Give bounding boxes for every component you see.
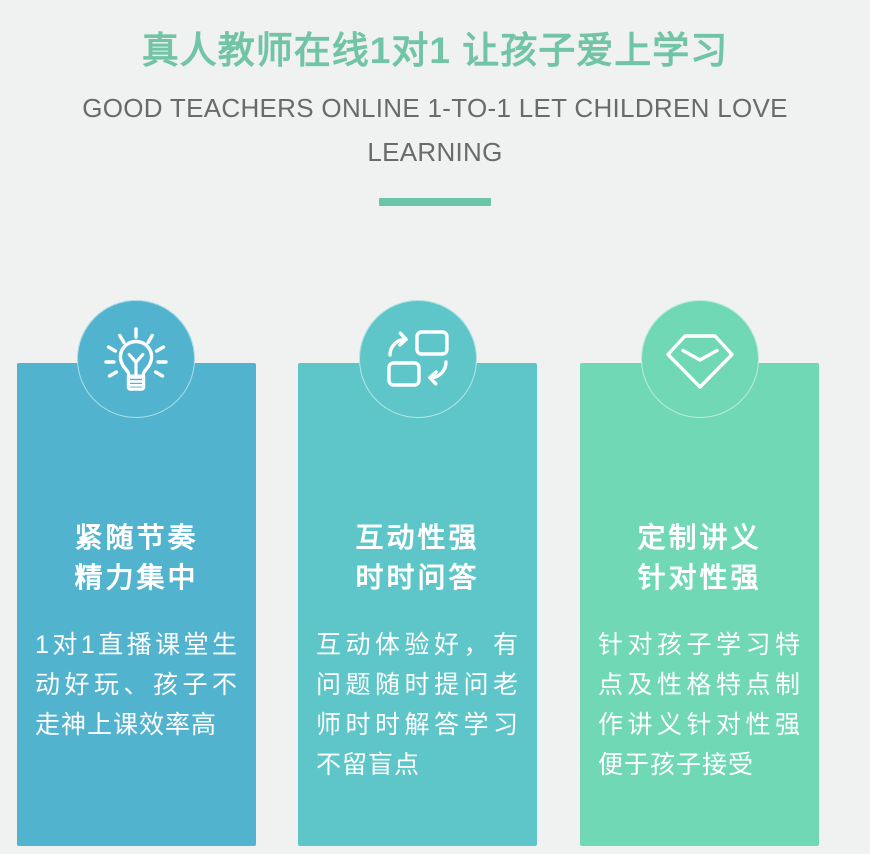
feature-card-2[interactable]: 互动性强 时时问答 互动体验好，有问题随时提问老师时时解答学习不留盲点 (298, 363, 537, 846)
card-1-body: 1对1直播课堂生动好玩、孩子不走神上课效率高 (35, 625, 238, 745)
exchange-icon-badge (359, 300, 477, 418)
lightbulb-icon-badge (77, 300, 195, 418)
section-divider (379, 198, 491, 206)
card-1-title: 紧随节奏 精力集中 (17, 518, 256, 598)
card-3-body: 针对孩子学习特点及性格特点制作讲义针对性强便于孩子接受 (598, 625, 801, 785)
feature-card-1[interactable]: 紧随节奏 精力集中 1对1直播课堂生动好玩、孩子不走神上课效率高 (17, 363, 256, 846)
promo-page: 真人教师在线1对1 让孩子爱上学习 GOOD TEACHERS ONLINE 1… (0, 0, 870, 854)
card-2-title-line1: 互动性强 (355, 522, 479, 553)
card-3-title-line1: 定制讲义 (637, 522, 761, 553)
card-2-title: 互动性强 时时问答 (298, 518, 537, 598)
card-2-body: 互动体验好，有问题随时提问老师时时解答学习不留盲点 (316, 625, 519, 785)
card-2-title-line2: 时时问答 (298, 558, 537, 598)
divider-wrap (0, 198, 870, 208)
card-1-title-line2: 精力集中 (17, 558, 256, 598)
diamond-icon-badge (641, 300, 759, 418)
page-title-chinese: 真人教师在线1对1 让孩子爱上学习 (0, 28, 870, 74)
diamond-icon (663, 322, 737, 396)
card-3-title-line2: 针对性强 (580, 558, 819, 598)
page-subtitle-english: GOOD TEACHERS ONLINE 1-TO-1 LET CHILDREN… (55, 86, 815, 174)
card-1-title-line1: 紧随节奏 (74, 522, 198, 553)
page-header: 真人教师在线1对1 让孩子爱上学习 GOOD TEACHERS ONLINE 1… (0, 0, 870, 208)
lightbulb-icon (99, 322, 173, 396)
exchange-icon (381, 322, 455, 396)
feature-cards: 紧随节奏 精力集中 1对1直播课堂生动好玩、孩子不走神上课效率高 互动性强 时时… (0, 300, 870, 854)
feature-card-3[interactable]: 定制讲义 针对性强 针对孩子学习特点及性格特点制作讲义针对性强便于孩子接受 (580, 363, 819, 846)
card-3-title: 定制讲义 针对性强 (580, 518, 819, 598)
